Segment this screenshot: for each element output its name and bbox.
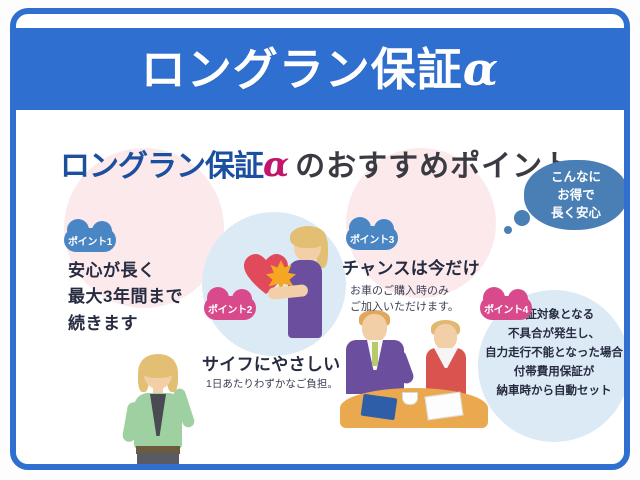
- page-title: ロングラン保証α: [141, 46, 499, 92]
- point-3-badge-label: ポイント3: [350, 231, 394, 246]
- point-1-title: 安心が長く 最大3年間まで 続きます: [68, 258, 183, 337]
- point-1-title-line-2: 最大3年間まで: [68, 284, 183, 310]
- point-1-badge: ポイント1: [64, 228, 116, 252]
- thought-bubble-line-3: 長く安心: [551, 204, 601, 222]
- point-3-subtext-line-2: ご加入いただけます。: [350, 300, 459, 316]
- thought-bubble: こんなに お得で 長く安心: [524, 160, 624, 230]
- point-2-title-line-1: サイフにやさしい: [202, 354, 340, 376]
- point-4-title: 保証対象となる 不具合が発生し、 自力走行不能となった場合 付帯費用保証が 納車…: [478, 306, 624, 401]
- point-4-badge: ポイント4: [480, 296, 532, 320]
- point-3-table-scene-illustration: [334, 310, 494, 428]
- point-4-badge-label: ポイント4: [484, 301, 528, 316]
- headline-brand: ロングラン保証: [60, 150, 263, 183]
- point-3-title: チャンスは今だけ: [342, 258, 480, 280]
- poster-root: ロングラン保証α ロングラン保証αのおすすめポイント こんなに お得で 長く安心…: [0, 0, 640, 480]
- point-2-badge-label: ポイント2: [208, 301, 252, 316]
- thought-bubble-line-2: お得で: [557, 186, 595, 204]
- point-4-title-line-4: 付帯費用保証が: [478, 363, 624, 382]
- poster-frame: ロングラン保証α ロングラン保証αのおすすめポイント こんなに お得で 長く安心…: [10, 8, 630, 470]
- point-4-title-line-2: 不具合が発生し、: [478, 325, 624, 344]
- point-1-badge-label: ポイント1: [68, 233, 112, 248]
- headline: ロングラン保証αのおすすめポイント: [60, 148, 574, 182]
- point-3-subtext-line-1: お車のご購入時のみ: [350, 284, 459, 300]
- point-3-badge: ポイント3: [346, 226, 398, 250]
- point-4-title-line-5: 納車時から自動セット: [478, 382, 624, 401]
- point-2-woman-heart-illustration: [238, 230, 338, 340]
- headline-alpha: α: [263, 145, 289, 185]
- point-2-title: サイフにやさしい: [202, 354, 340, 376]
- point-2-subtext: 1日あたりわずかなご負担。: [206, 378, 338, 392]
- point-2-badge: ポイント2: [204, 296, 256, 320]
- point-3-title-line-1: チャンスは今だけ: [342, 258, 480, 280]
- header-title-text: ロングラン保証: [141, 44, 463, 95]
- point-1-woman-illustration: [122, 358, 196, 464]
- point-3-subtext: お車のご購入時のみ ご加入いただけます。: [350, 284, 459, 316]
- content-area: ロングラン保証αのおすすめポイント こんなに お得で 長く安心 ポイント1 安心…: [16, 110, 624, 464]
- header-band: ロングラン保証α: [14, 28, 626, 110]
- point-1-title-line-1: 安心が長く: [68, 258, 183, 284]
- header-title-alpha: α: [463, 42, 499, 96]
- thought-bubble-line-1: こんなに: [551, 168, 601, 186]
- point-4-title-line-3: 自力走行不能となった場合: [478, 344, 624, 363]
- point-1-title-line-3: 続きます: [68, 311, 183, 337]
